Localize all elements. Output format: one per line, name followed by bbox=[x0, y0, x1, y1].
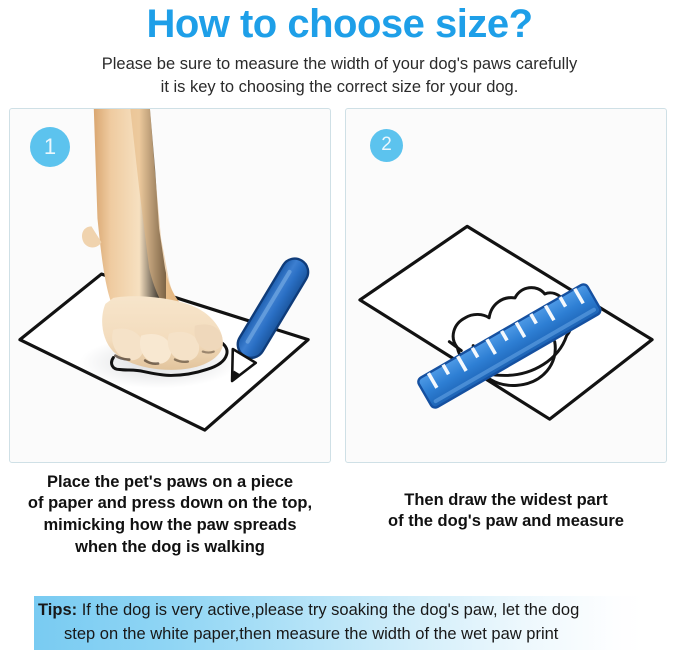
tips-label: Tips: bbox=[38, 601, 77, 619]
tips-section: Tips: If the dog is very active,please t… bbox=[0, 596, 679, 650]
step-badge-1: 1 bbox=[30, 127, 70, 167]
subtitle-line-1: Please be sure to measure the width of y… bbox=[0, 53, 679, 76]
tips-line-2: step on the white paper,then measure the… bbox=[38, 623, 641, 646]
header: How to choose size? Please be sure to me… bbox=[0, 0, 679, 99]
caption-2-line-2: of the dog's paw and measure bbox=[345, 511, 667, 533]
tips-line-1: Tips: If the dog is very active,please t… bbox=[38, 599, 641, 622]
caption-1-line-3: mimicking how the paw spreads bbox=[9, 515, 331, 537]
page-subtitle: Please be sure to measure the width of y… bbox=[0, 45, 679, 99]
step-badge-2: 2 bbox=[370, 129, 403, 162]
step-caption-2: Then draw the widest part of the dog's p… bbox=[345, 463, 667, 559]
step-panel-2: 2 bbox=[345, 108, 667, 463]
steps-panel-row: 1 bbox=[0, 99, 679, 463]
step-panel-1: 1 bbox=[9, 108, 331, 463]
caption-1-line-4: when the dog is walking bbox=[9, 537, 331, 559]
tips-text-1: If the dog is very active,please try soa… bbox=[77, 601, 579, 619]
caption-1-line-2: of paper and press down on the top, bbox=[9, 493, 331, 515]
caption-2-line-1: Then draw the widest part bbox=[345, 490, 667, 512]
subtitle-line-2: it is key to choosing the correct size f… bbox=[0, 76, 679, 99]
illustration-ruler-measuring-paw-outline bbox=[346, 109, 666, 462]
caption-row: Place the pet's paws on a piece of paper… bbox=[0, 463, 679, 559]
tips-highlight-box: Tips: If the dog is very active,please t… bbox=[34, 596, 645, 650]
page-title: How to choose size? bbox=[0, 2, 679, 45]
step-caption-1: Place the pet's paws on a piece of paper… bbox=[9, 463, 331, 559]
caption-1-line-1: Place the pet's paws on a piece bbox=[9, 472, 331, 494]
